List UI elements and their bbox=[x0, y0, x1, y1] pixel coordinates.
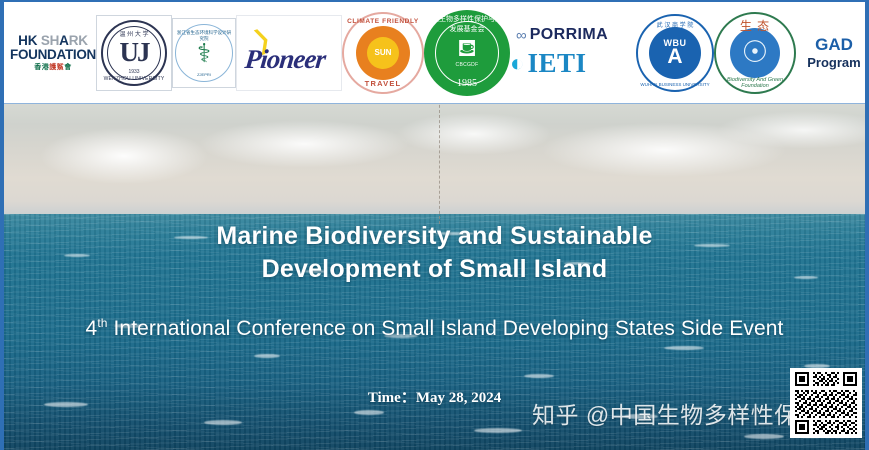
subtitle-ordinal-suffix: th bbox=[97, 316, 107, 330]
wbu-letter: A bbox=[667, 48, 682, 67]
sun-ring-icon: SUN bbox=[356, 26, 410, 80]
event-subtitle: 4th International Conference on Small Is… bbox=[4, 316, 865, 341]
porrima-row: ∞ PORRIMA bbox=[510, 26, 636, 44]
sponsor-logo-strip: HK SHARK FOUNDATION 香港護鯊會 温 州 大 学 UJ 193… bbox=[4, 0, 865, 104]
logo-pioneer: ❭ Pioneer bbox=[236, 7, 342, 99]
qr-code-image bbox=[792, 370, 860, 436]
hkshark-line1-sh: SH bbox=[41, 33, 59, 48]
ieti-row: ◐ IETI bbox=[510, 48, 636, 79]
logo-porrima-ieti: ∞ PORRIMA ◐ IETI bbox=[510, 7, 636, 99]
hkshark-line2: FOUNDATION bbox=[10, 48, 96, 62]
hkshark-line1-hk: HK bbox=[18, 33, 41, 48]
cft-arc-top: CLIMATE FRIENDLY bbox=[344, 18, 422, 25]
logo-wenzhou-university: 温 州 大 学 UJ 1933 WENZHOU UNIVERSITY bbox=[96, 7, 172, 99]
wzu-frame: 温 州 大 学 UJ 1933 WENZHOU UNIVERSITY bbox=[96, 15, 172, 91]
porrima-wordmark: PORRIMA bbox=[530, 26, 608, 44]
title-line-2: Development of Small Island bbox=[4, 253, 865, 286]
cft-badge: CLIMATE FRIENDLY SUN TRAVEL bbox=[342, 12, 424, 94]
basket-icon: ⛾ bbox=[457, 37, 477, 61]
bgf-arc-top: 生 态 bbox=[716, 17, 794, 34]
porrima-ieti-stack: ∞ PORRIMA ◐ IETI bbox=[510, 13, 636, 93]
ieti-swirl-icon: ◐ bbox=[510, 52, 525, 76]
wbu-disc: WBU A bbox=[649, 27, 701, 79]
cbcgdf-year: 1985 bbox=[424, 78, 510, 89]
wzu-arc-bottom: WENZHOU UNIVERSITY bbox=[103, 76, 165, 82]
gad-line2: Program bbox=[807, 55, 860, 71]
main-title: Marine Biodiversity and Sustainable Deve… bbox=[4, 220, 865, 286]
logo-biodiversity-green-foundation: 生 态 ☉ Biodiversity And Green Foundation bbox=[714, 7, 796, 99]
logo-wuhan-business-university: 武 汉 商 学 院 WBU A WUHAN BUSINESS UNIVERSIT… bbox=[636, 7, 714, 99]
cft-core-label: SUN bbox=[367, 37, 399, 69]
hkshark-line1-a: A bbox=[59, 33, 69, 48]
hkshark-cn-a: 香港 bbox=[34, 64, 49, 71]
time-label: Time： bbox=[368, 390, 416, 406]
conference-poster: HK SHARK FOUNDATION 香港護鯊會 温 州 大 学 UJ 193… bbox=[0, 0, 869, 450]
logo-gad-program: GAD Program bbox=[796, 7, 869, 99]
logo-cbcgdf: 中国生物多样性保护与绿色发展基金会 ⛾ CBCGDF 1985 bbox=[424, 7, 510, 99]
pioneer-frame: ❭ Pioneer bbox=[236, 15, 342, 91]
logo-climate-friendly-travel: CLIMATE FRIENDLY SUN TRAVEL bbox=[342, 7, 424, 99]
cbcgdf-seal: 中国生物多样性保护与绿色发展基金会 ⛾ CBCGDF 1985 bbox=[424, 10, 510, 96]
qr-code[interactable] bbox=[790, 368, 862, 438]
grncirc-arc-top: 浙江省生态环境科学设计研究院 bbox=[176, 30, 232, 42]
grncirc-arc-bottom: ZJEPRI bbox=[176, 72, 232, 77]
green-cross-icon: ⚕ bbox=[197, 40, 211, 66]
wzu-arc-top: 温 州 大 学 bbox=[103, 29, 165, 38]
gad-line1: GAD bbox=[815, 34, 853, 55]
grncirc-frame: 浙江省生态环境科学设计研究院 ⚕ ZJEPRI bbox=[172, 18, 236, 88]
chain-link-icon: ∞ bbox=[516, 27, 524, 44]
pioneer-wordmark: Pioneer bbox=[243, 44, 326, 75]
bgf-arc-bottom: Biodiversity And Green Foundation bbox=[716, 77, 794, 89]
grncirc-seal: 浙江省生态环境科学设计研究院 ⚕ ZJEPRI bbox=[175, 24, 233, 82]
wbu-seal: 武 汉 商 学 院 WBU A WUHAN BUSINESS UNIVERSIT… bbox=[636, 14, 714, 92]
logo-green-cross-institute: 浙江省生态环境科学设计研究院 ⚕ ZJEPRI bbox=[172, 7, 236, 99]
cft-arc-bottom: TRAVEL bbox=[344, 79, 422, 88]
cbcgdf-arc-top: 中国生物多样性保护与绿色发展基金会 bbox=[424, 14, 510, 34]
logo-hk-shark-foundation: HK SHARK FOUNDATION 香港護鯊會 bbox=[10, 7, 96, 99]
hkshark-line1-rk: RK bbox=[69, 33, 88, 48]
title-line-1: Marine Biodiversity and Sustainable bbox=[4, 220, 865, 253]
globe-icon: ☉ bbox=[730, 28, 780, 78]
wzu-seal: 温 州 大 学 UJ 1933 WENZHOU UNIVERSITY bbox=[101, 20, 167, 86]
zhihu-watermark: 知乎 @中国生物多样性保护 bbox=[532, 396, 821, 430]
wbu-arc-top: 武 汉 商 学 院 bbox=[638, 20, 712, 29]
wzu-year: 1933 bbox=[103, 69, 165, 75]
wzu-monogram: UJ bbox=[120, 37, 149, 68]
time-value: May 28, 2024 bbox=[416, 390, 501, 406]
wbu-arc-bottom: WUHAN BUSINESS UNIVERSITY bbox=[638, 82, 712, 87]
hkshark-cn-b: 護鯊 bbox=[49, 64, 64, 71]
ieti-wordmark: IETI bbox=[528, 48, 587, 79]
sky-background bbox=[4, 104, 865, 217]
subtitle-text: International Conference on Small Island… bbox=[108, 317, 784, 340]
cbcgdf-abbr: CBCGDF bbox=[456, 62, 479, 68]
subtitle-ordinal: 4 bbox=[86, 317, 98, 340]
hkshark-cn-c: 會 bbox=[64, 64, 72, 71]
bgf-seal: 生 态 ☉ Biodiversity And Green Foundation bbox=[714, 12, 796, 94]
